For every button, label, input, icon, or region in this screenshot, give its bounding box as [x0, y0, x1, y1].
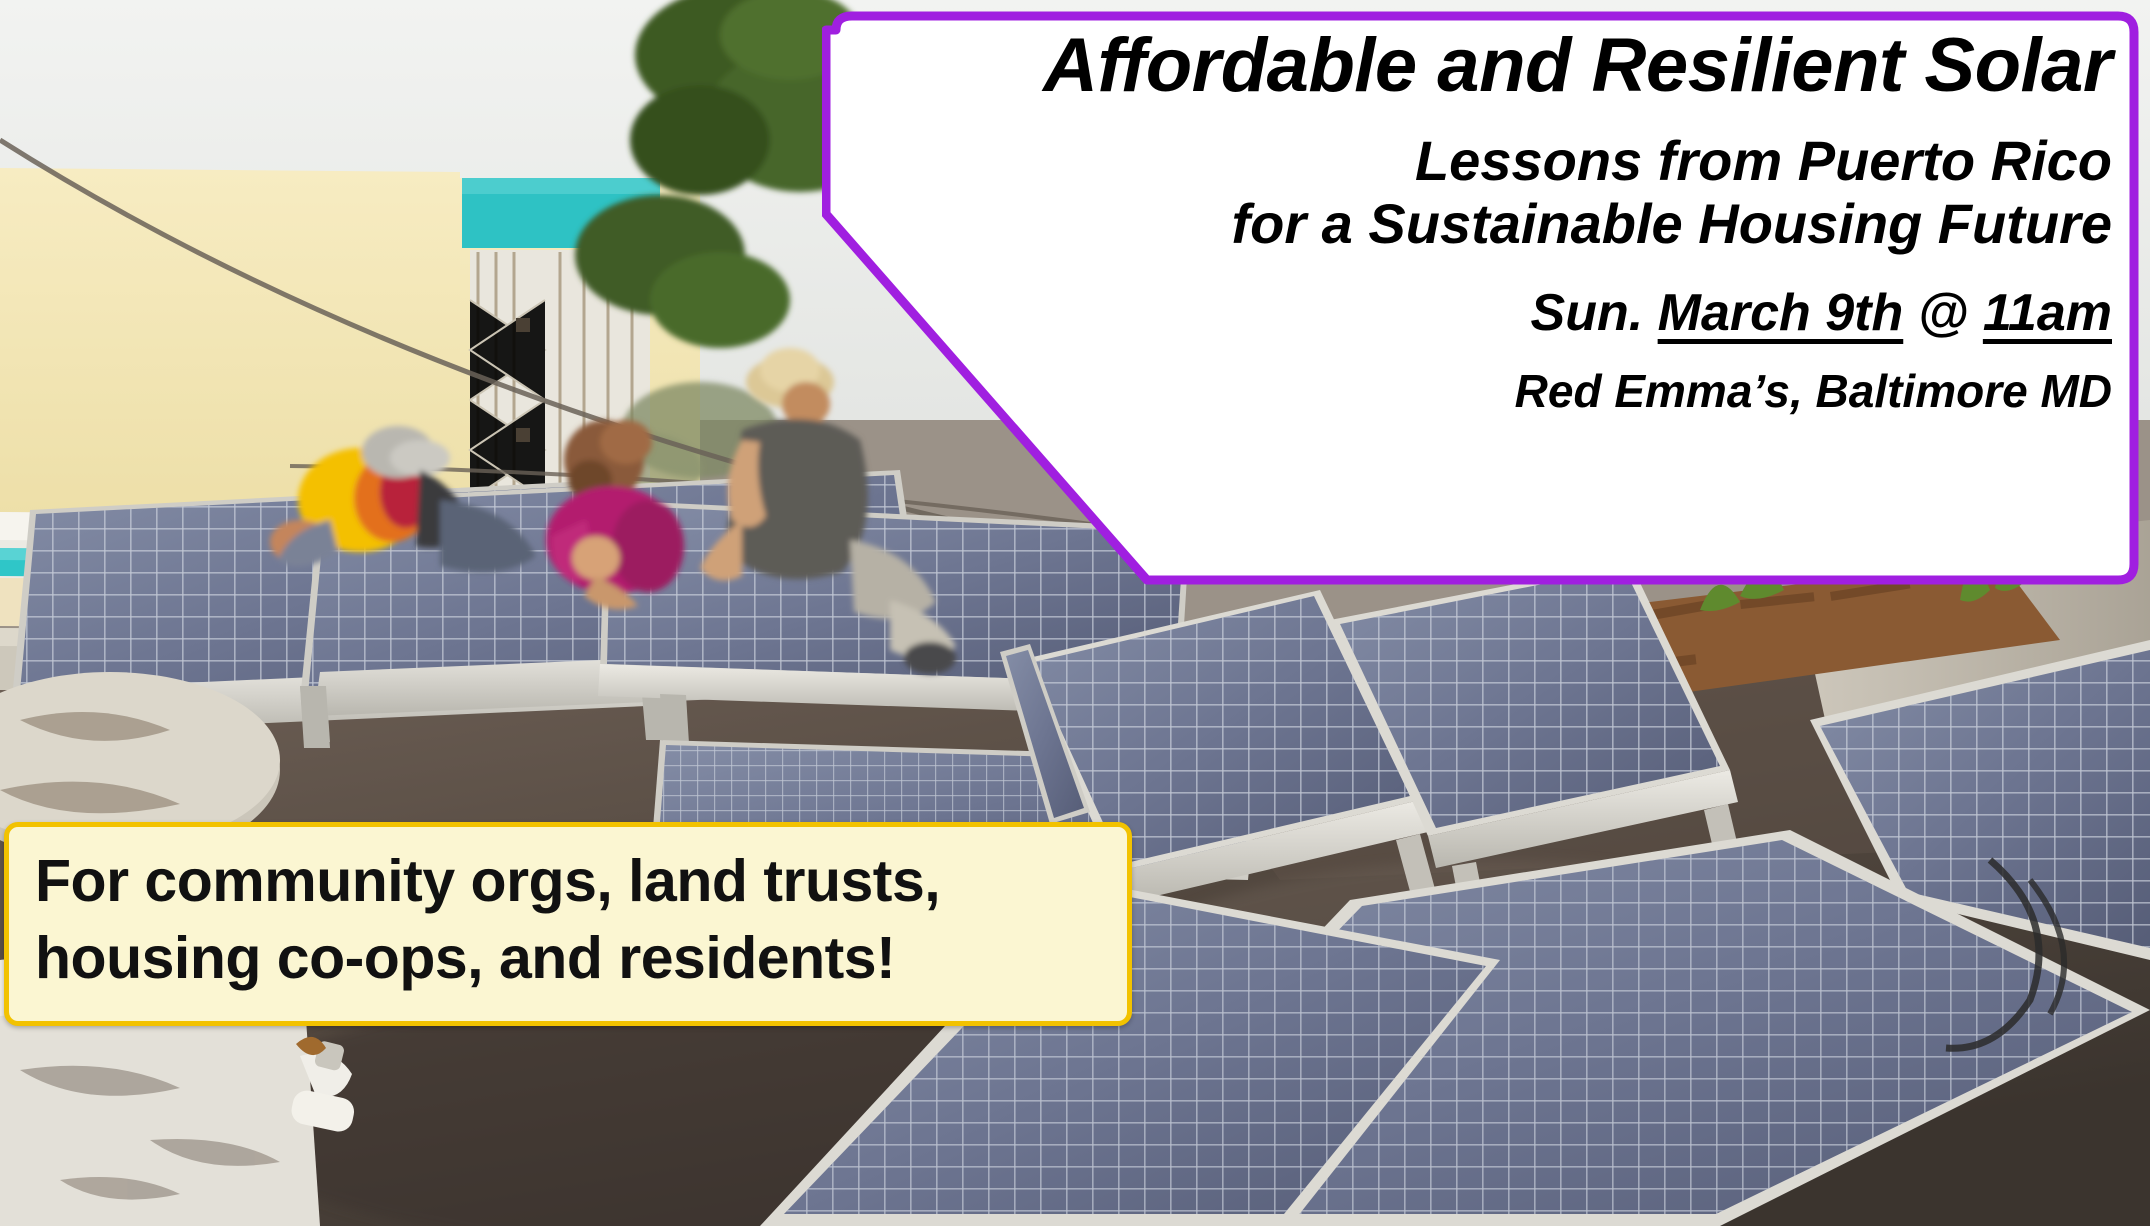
event-time: 11am [1983, 284, 2112, 342]
event-date: March 9th [1658, 284, 1904, 342]
event-day-prefix: Sun. [1531, 284, 1658, 342]
audience-line-2: housing co-ops, and residents! [35, 920, 1127, 997]
audience-line-1: For community orgs, land trusts, [35, 843, 1127, 920]
audience-callout-box: For community orgs, land trusts, housing… [4, 822, 1132, 1026]
event-subtitle-line-2: for a Sustainable Housing Future [822, 192, 2112, 255]
event-callout: Affordable and Resilient Solar Lessons f… [822, 8, 2142, 590]
event-title: Affordable and Resilient Solar [822, 26, 2112, 107]
poster-canvas: Affordable and Resilient Solar Lessons f… [0, 0, 2150, 1226]
event-venue: Red Emma’s, Baltimore MD [822, 366, 2112, 417]
event-subtitle-line-1: Lessons from Puerto Rico [822, 129, 2112, 192]
event-datetime: Sun. March 9th @ 11am [822, 285, 2112, 342]
event-at-separator: @ [1903, 284, 1983, 342]
